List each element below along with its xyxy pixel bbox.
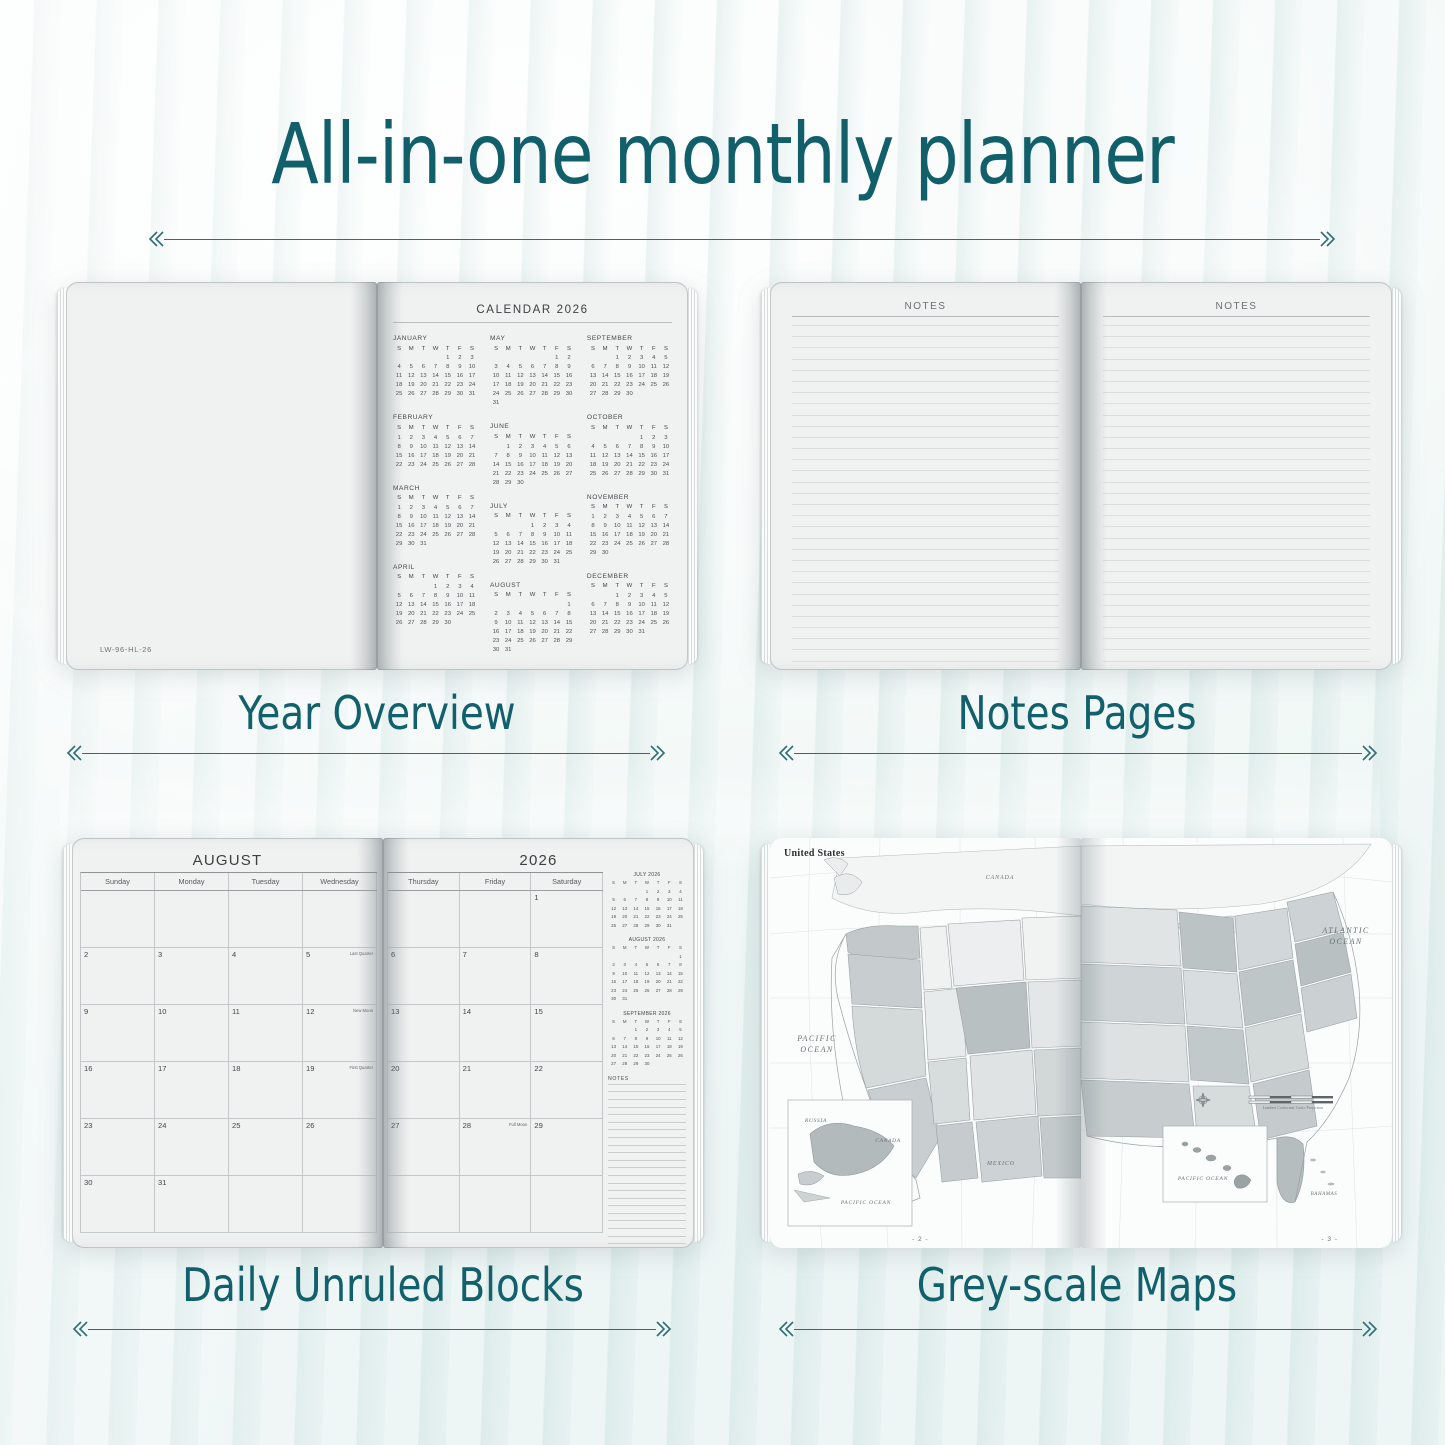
day-cell: 3 — [417, 434, 429, 443]
day-cell: 19 — [660, 610, 672, 619]
weekday-initial: M — [405, 424, 417, 434]
week-row: 3031 — [81, 1176, 377, 1233]
year-overview-left-page: LW-96-HL-26 — [66, 282, 377, 670]
weekday-initial: T — [630, 879, 641, 888]
day-cell: 29 — [563, 637, 575, 646]
weekday-initial: M — [502, 591, 514, 601]
weekday-initial: W — [526, 345, 538, 355]
day-cell: 11 — [587, 452, 599, 461]
day-cell: 18 — [539, 461, 551, 470]
day-block[interactable] — [388, 891, 460, 947]
sidebar-notes-line — [608, 1091, 686, 1092]
day-block[interactable]: 14 — [460, 1005, 532, 1061]
day-cell: 14 — [514, 540, 526, 549]
day-block[interactable]: 17 — [155, 1062, 229, 1118]
day-cell: 18 — [393, 381, 405, 390]
day-cell: 31 — [490, 399, 502, 408]
day-block[interactable] — [155, 891, 229, 947]
day-cell: 1 — [393, 434, 405, 443]
chevron-left-icon — [148, 230, 164, 248]
ruled-line — [1103, 560, 1370, 561]
day-number: 29 — [534, 1121, 542, 1130]
day-cell: 13 — [653, 970, 664, 979]
day-cell — [630, 953, 641, 962]
ruled-line — [1103, 605, 1370, 606]
day-cell: 6 — [587, 363, 599, 372]
day-cell: 23 — [442, 610, 454, 619]
day-block[interactable]: 18 — [229, 1062, 303, 1118]
book-maps: United States PACIFIC OCEAN CANADA MEXIC… — [770, 838, 1392, 1248]
ruled-line — [1103, 504, 1370, 505]
mini-calendar: NOVEMBERSMTWTFS1234567891011121314151617… — [587, 494, 672, 558]
day-cell: 21 — [417, 610, 429, 619]
weekday-initial: S — [587, 424, 599, 434]
day-block[interactable]: 4 — [229, 948, 303, 1004]
page-edge-left — [57, 288, 66, 664]
page-edge-left — [761, 844, 770, 1242]
day-cell: 19 — [675, 1043, 686, 1052]
day-cell: 2 — [599, 513, 611, 522]
weekday-initial: M — [502, 433, 514, 443]
day-cell — [653, 953, 664, 962]
month-name: APRIL — [393, 564, 478, 571]
day-cell: 9 — [454, 363, 466, 372]
day-cell: 28 — [630, 922, 641, 931]
day-block[interactable] — [229, 1176, 303, 1232]
day-cell: 15 — [551, 372, 563, 381]
day-cell: 15 — [526, 540, 538, 549]
day-block[interactable] — [81, 891, 155, 947]
day-block[interactable]: 10 — [155, 1005, 229, 1061]
day-cell: 3 — [417, 504, 429, 513]
day-cell: 9 — [599, 522, 611, 531]
weekday-initial: W — [623, 582, 635, 592]
day-cell: 9 — [653, 896, 664, 905]
day-cell: 20 — [587, 381, 599, 390]
ruled-line — [1103, 616, 1370, 617]
weekday-initial: S — [675, 1018, 686, 1027]
sidebar-notes-line — [608, 1160, 686, 1161]
day-cell: 1 — [675, 953, 686, 962]
day-cell — [405, 583, 417, 592]
ruled-line — [1103, 459, 1370, 460]
day-cell — [664, 953, 675, 962]
day-block[interactable]: 16 — [81, 1062, 155, 1118]
weekday-header: Monday — [155, 873, 229, 890]
day-cell: 20 — [454, 452, 466, 461]
day-cell: 30 — [454, 390, 466, 399]
day-block[interactable]: 12New Moon — [303, 1005, 377, 1061]
day-cell: 25 — [429, 461, 441, 470]
day-cell: 5 — [660, 354, 672, 363]
mini-month-table: SMTWTFS123456789101112131415161718192021… — [608, 1018, 686, 1069]
ruled-line — [1103, 493, 1370, 494]
weekday-initial: T — [611, 345, 623, 355]
day-cell: 19 — [514, 381, 526, 390]
day-cell: 28 — [664, 987, 675, 996]
day-block[interactable]: 26 — [303, 1119, 377, 1175]
day-cell: 25 — [514, 637, 526, 646]
sidebar-notes-line — [608, 1213, 686, 1214]
day-cell: 26 — [599, 470, 611, 479]
day-block[interactable]: 22 — [531, 1062, 603, 1118]
day-cell: 1 — [611, 354, 623, 363]
day-cell — [653, 1060, 664, 1069]
day-block[interactable] — [303, 891, 377, 947]
day-block[interactable] — [303, 1176, 377, 1232]
day-block[interactable] — [531, 1176, 603, 1232]
day-cell: 2 — [641, 1026, 652, 1035]
day-cell: 17 — [653, 1043, 664, 1052]
day-block[interactable]: 13 — [388, 1005, 460, 1061]
day-cell: 24 — [636, 619, 648, 628]
notes-header-right: NOTES — [1081, 301, 1392, 312]
day-cell: 27 — [502, 558, 514, 567]
weekday-initial: S — [675, 944, 686, 953]
day-cell: 17 — [417, 452, 429, 461]
day-cell: 30 — [539, 558, 551, 567]
weekday-initial: W — [623, 503, 635, 513]
day-cell: 8 — [442, 363, 454, 372]
day-cell: 12 — [490, 540, 502, 549]
book-notes-pages: NOTES NOTES — [770, 282, 1392, 670]
day-cell: 15 — [641, 905, 652, 914]
ruled-line — [792, 482, 1059, 483]
year-overview-right-page: CALENDAR 2026 JANUARYSMTWTFS123456789101… — [377, 282, 688, 670]
day-cell: 10 — [636, 601, 648, 610]
ruled-line — [1103, 347, 1370, 348]
notes-header-left: NOTES — [770, 301, 1081, 312]
day-cell: 15 — [502, 461, 514, 470]
day-cell: 26 — [393, 619, 405, 628]
day-cell: 21 — [664, 978, 675, 987]
day-cell: 18 — [429, 522, 441, 531]
day-cell: 21 — [623, 461, 635, 470]
day-cell — [611, 549, 623, 558]
day-cell: 14 — [490, 461, 502, 470]
weekday-initial: T — [636, 424, 648, 434]
mini-month-table: SMTWTFS123456789101112131415161718192021… — [587, 503, 672, 558]
day-cell: 13 — [539, 619, 551, 628]
day-block[interactable] — [388, 1176, 460, 1232]
day-cell — [502, 354, 514, 363]
day-cell: 23 — [490, 637, 502, 646]
day-cell: 16 — [514, 461, 526, 470]
day-number: 3 — [158, 950, 162, 959]
day-cell: 19 — [442, 452, 454, 461]
day-number: 14 — [463, 1007, 471, 1016]
day-cell: 1 — [526, 522, 538, 531]
ruled-line — [792, 359, 1059, 360]
day-cell: 19 — [599, 461, 611, 470]
weekday-initial: S — [660, 345, 672, 355]
day-cell: 10 — [417, 443, 429, 452]
day-block[interactable]: 24 — [155, 1119, 229, 1175]
weekday-initial: T — [539, 591, 551, 601]
day-number: 18 — [232, 1064, 240, 1073]
day-cell: 8 — [502, 452, 514, 461]
weekday-initial: W — [429, 573, 441, 583]
day-cell: 27 — [648, 540, 660, 549]
day-cell: 18 — [664, 1043, 675, 1052]
day-cell: 6 — [417, 363, 429, 372]
day-cell: 18 — [675, 905, 686, 914]
day-cell: 30 — [648, 470, 660, 479]
sidebar-mini-calendar: SEPTEMBER 2026SMTWTFS1234567891011121314… — [608, 1011, 686, 1069]
day-cell: 14 — [630, 905, 641, 914]
chevron-right-icon — [1320, 230, 1336, 248]
day-block[interactable]: 8 — [531, 948, 603, 1004]
caption-arrow-daily-blocks — [72, 1318, 672, 1340]
sidebar-notes-line — [608, 1220, 686, 1221]
day-block[interactable]: 2 — [81, 948, 155, 1004]
day-cell: 7 — [466, 434, 478, 443]
day-cell — [641, 995, 652, 1004]
day-number: 31 — [158, 1178, 166, 1187]
mini-calendar: MARCHSMTWTFS1234567891011121314151617181… — [393, 485, 478, 549]
day-cell: 20 — [608, 1052, 619, 1061]
day-block[interactable]: 3 — [155, 948, 229, 1004]
day-cell: 27 — [611, 470, 623, 479]
day-cell — [466, 540, 478, 549]
ruled-line — [1103, 426, 1370, 427]
weekday-initial: T — [630, 1018, 641, 1027]
map-left-page: United States PACIFIC OCEAN CANADA MEXIC… — [770, 838, 1081, 1248]
moon-phase-label: First Quarter — [350, 1065, 374, 1070]
day-cell — [563, 479, 575, 488]
mini-month-table: SMTWTFS123456789101112131415161718192021… — [587, 345, 672, 400]
day-cell: 22 — [630, 1052, 641, 1061]
map-title: United States — [784, 848, 845, 859]
day-cell: 29 — [551, 390, 563, 399]
day-block[interactable]: 11 — [229, 1005, 303, 1061]
mini-calendar: FEBRUARYSMTWTFS1234567891011121314151617… — [393, 414, 478, 469]
day-cell — [660, 628, 672, 637]
day-block[interactable]: 7 — [460, 948, 532, 1004]
day-cell: 25 — [664, 1052, 675, 1061]
day-block[interactable]: 6 — [388, 948, 460, 1004]
day-block[interactable]: 27 — [388, 1119, 460, 1175]
day-cell: 22 — [429, 610, 441, 619]
day-cell: 24 — [417, 531, 429, 540]
day-cell: 29 — [429, 619, 441, 628]
region-label-canada: CANADA — [970, 874, 1030, 882]
weekday-initial: S — [490, 512, 502, 522]
day-cell: 13 — [587, 372, 599, 381]
day-cell: 23 — [641, 1052, 652, 1061]
ruled-line — [1103, 638, 1370, 639]
day-cell: 17 — [466, 372, 478, 381]
day-cell: 14 — [466, 513, 478, 522]
day-cell: 13 — [405, 601, 417, 610]
day-cell — [539, 354, 551, 363]
day-cell: 7 — [417, 592, 429, 601]
weekday-initial: S — [587, 345, 599, 355]
weekday-initial: S — [393, 494, 405, 504]
day-block[interactable] — [229, 891, 303, 947]
day-cell: 27 — [608, 1060, 619, 1069]
day-block[interactable]: 31 — [155, 1176, 229, 1232]
week-row: 9101112New Moon — [81, 1005, 377, 1062]
day-cell: 2 — [648, 434, 660, 443]
day-cell: 31 — [664, 922, 675, 931]
sidebar-notes-line — [608, 1205, 686, 1206]
ruled-line — [1103, 470, 1370, 471]
day-cell: 8 — [675, 961, 686, 970]
day-cell: 17 — [417, 522, 429, 531]
day-cell: 2 — [442, 583, 454, 592]
ruled-line — [1103, 515, 1370, 516]
day-cell — [526, 601, 538, 610]
day-block[interactable]: 19First Quarter — [303, 1062, 377, 1118]
day-cell: 4 — [502, 363, 514, 372]
day-number: 6 — [391, 950, 395, 959]
day-cell — [502, 522, 514, 531]
day-cell: 14 — [660, 522, 672, 531]
caption-arrow-year-overview — [66, 742, 666, 764]
day-number: 12 — [306, 1007, 314, 1016]
notes-ruled-lines-left — [792, 325, 1059, 670]
day-cell: 4 — [664, 1026, 675, 1035]
sidebar-month-name: JULY 2026 — [608, 872, 686, 878]
ruled-line — [792, 470, 1059, 471]
week-row: 16171819First Quarter — [81, 1062, 377, 1119]
day-cell — [653, 995, 664, 1004]
ruled-line — [792, 661, 1059, 662]
day-cell: 16 — [454, 372, 466, 381]
sidebar-month-name: SEPTEMBER 2026 — [608, 1011, 686, 1017]
day-cell — [641, 953, 652, 962]
ruled-line — [792, 426, 1059, 427]
day-cell — [454, 540, 466, 549]
ruled-line — [792, 370, 1059, 371]
day-block[interactable]: 5Last Quarter — [303, 948, 377, 1004]
weekday-header: Thursday — [388, 873, 460, 890]
day-cell: 27 — [526, 390, 538, 399]
day-cell: 25 — [502, 390, 514, 399]
day-block[interactable]: 28Full Moon — [460, 1119, 532, 1175]
day-number: 22 — [534, 1064, 542, 1073]
day-cell: 16 — [623, 610, 635, 619]
day-cell: 22 — [675, 978, 686, 987]
day-cell: 28 — [599, 628, 611, 637]
weekday-initial: T — [442, 573, 454, 583]
day-block[interactable]: 15 — [531, 1005, 603, 1061]
day-cell — [563, 558, 575, 567]
day-cell: 20 — [611, 461, 623, 470]
day-block[interactable]: 1 — [531, 891, 603, 947]
day-cell — [648, 628, 660, 637]
day-cell: 5 — [636, 513, 648, 522]
day-cell: 22 — [526, 549, 538, 558]
day-block[interactable]: 23 — [81, 1119, 155, 1175]
day-cell — [599, 354, 611, 363]
page-edge-right — [1392, 844, 1401, 1242]
day-cell: 24 — [611, 540, 623, 549]
day-cell: 22 — [641, 913, 652, 922]
day-block[interactable]: 9 — [81, 1005, 155, 1061]
day-cell: 22 — [551, 381, 563, 390]
day-number: 9 — [84, 1007, 88, 1016]
day-cell — [608, 953, 619, 962]
weekday-initial: S — [608, 879, 619, 888]
day-cell: 17 — [660, 452, 672, 461]
ruled-line — [1103, 649, 1370, 650]
day-cell: 4 — [648, 592, 660, 601]
day-cell: 13 — [417, 372, 429, 381]
month-name: SEPTEMBER — [587, 335, 672, 342]
region-label-russia: RUSSIA — [792, 1118, 840, 1125]
day-cell: 13 — [587, 610, 599, 619]
day-block[interactable]: 20 — [388, 1062, 460, 1118]
mini-month-table: SMTWTFS123456789101112131415161718192021… — [608, 944, 686, 1004]
day-cell: 14 — [623, 452, 635, 461]
day-cell: 19 — [526, 628, 538, 637]
day-cell: 3 — [490, 363, 502, 372]
day-cell: 24 — [660, 461, 672, 470]
day-cell: 6 — [648, 513, 660, 522]
day-block[interactable]: 29 — [531, 1119, 603, 1175]
day-block[interactable] — [460, 1176, 532, 1232]
page-edge-left — [63, 844, 72, 1242]
day-cell: 19 — [405, 381, 417, 390]
weekday-initial: F — [454, 573, 466, 583]
day-cell: 20 — [454, 522, 466, 531]
page-number-right: - 3 - — [1321, 1236, 1338, 1243]
day-cell: 15 — [636, 452, 648, 461]
day-cell: 1 — [636, 434, 648, 443]
day-cell: 15 — [442, 372, 454, 381]
day-cell: 11 — [429, 443, 441, 452]
day-block[interactable]: 21 — [460, 1062, 532, 1118]
day-cell: 28 — [514, 558, 526, 567]
day-cell — [660, 390, 672, 399]
day-block[interactable] — [460, 891, 532, 947]
weekday-initial: T — [539, 433, 551, 443]
day-cell: 23 — [653, 913, 664, 922]
day-cell: 20 — [417, 381, 429, 390]
week-row: 202122 — [388, 1062, 603, 1119]
mini-calendar: JULYSMTWTFS12345678910111213141516171819… — [490, 503, 575, 567]
day-cell — [608, 888, 619, 897]
day-block[interactable]: 30 — [81, 1176, 155, 1232]
ruled-line — [1103, 627, 1370, 628]
day-cell: 23 — [608, 987, 619, 996]
calendar-column-1: MAYSMTWTFS123456789101112131415161718192… — [490, 335, 575, 670]
day-cell: 26 — [442, 461, 454, 470]
ruled-line — [792, 649, 1059, 650]
day-cell: 4 — [630, 961, 641, 970]
day-cell: 20 — [502, 549, 514, 558]
day-cell: 15 — [675, 970, 686, 979]
day-cell: 15 — [587, 531, 599, 540]
weekday-initial: T — [611, 582, 623, 592]
title-underline-arrow — [148, 228, 1336, 250]
week-row — [388, 1176, 603, 1233]
day-cell: 22 — [393, 531, 405, 540]
day-number: 26 — [306, 1121, 314, 1130]
day-cell: 14 — [551, 619, 563, 628]
day-cell: 20 — [619, 913, 630, 922]
day-cell: 22 — [636, 461, 648, 470]
ruled-line — [792, 504, 1059, 505]
day-block[interactable]: 25 — [229, 1119, 303, 1175]
day-cell: 9 — [623, 601, 635, 610]
infographic-canvas: All-in-one monthly planner LW-96-HL-26 C… — [0, 0, 1445, 1445]
day-cell: 30 — [623, 390, 635, 399]
day-cell — [675, 922, 686, 931]
day-cell: 26 — [608, 922, 619, 931]
